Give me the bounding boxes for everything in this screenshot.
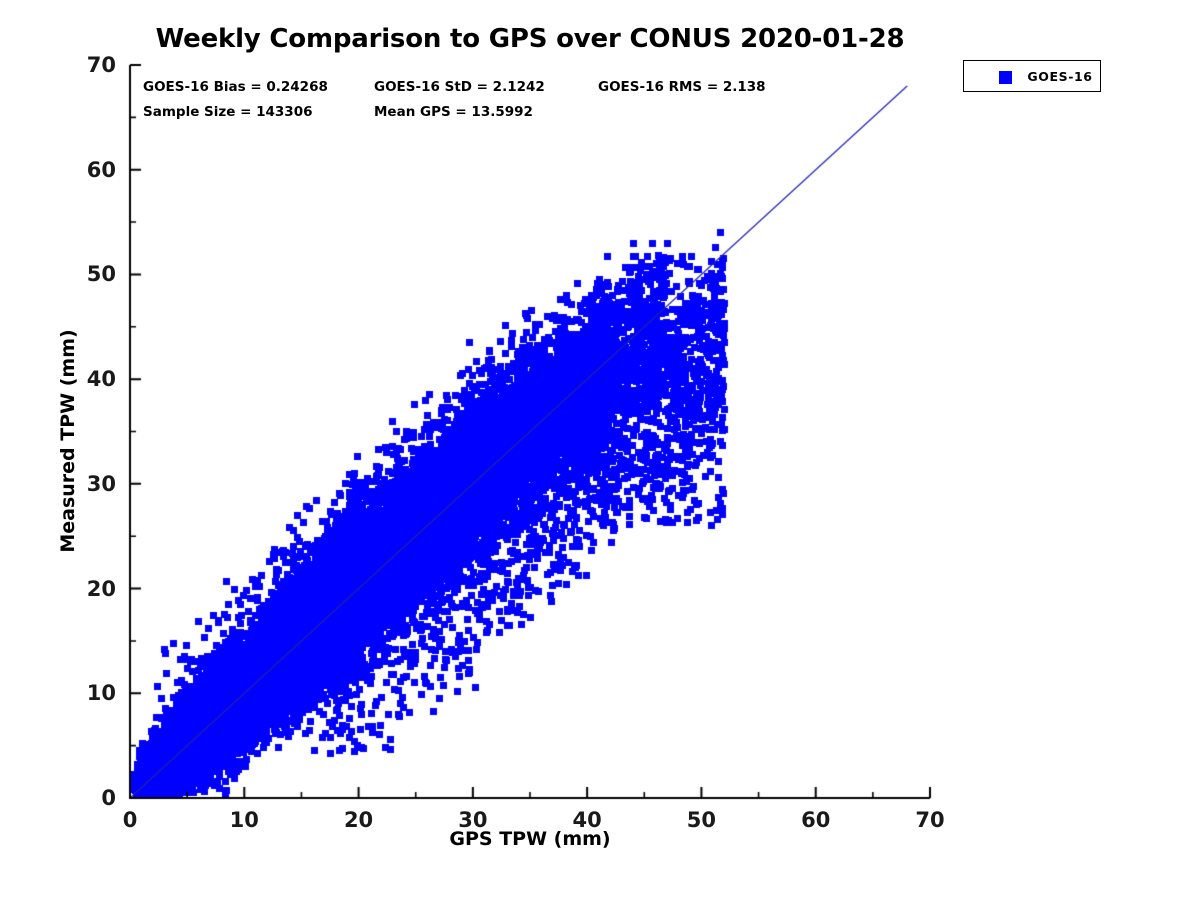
chart-legend: GOES-16 — [963, 60, 1101, 92]
legend-swatch-goes16-icon — [999, 71, 1012, 84]
y-tick-label-0: 0 — [58, 786, 116, 810]
y-tick-label-10: 10 — [58, 681, 116, 705]
y-tick-label-50: 50 — [58, 262, 116, 286]
annotation-mean-gps: Mean GPS = 13.5992 — [374, 104, 533, 120]
legend-label-goes16: GOES-16 — [1024, 69, 1096, 84]
y-tick-label-60: 60 — [58, 158, 116, 182]
annotation-std: GOES-16 StD = 2.1242 — [374, 79, 545, 95]
y-tick-label-70: 70 — [58, 53, 116, 77]
x-axis-label: GPS TPW (mm) — [130, 828, 930, 850]
y-tick-label-20: 20 — [58, 577, 116, 601]
chart-figure: Weekly Comparison to GPS over CONUS 2020… — [0, 0, 1200, 900]
annotation-bias: GOES-16 Bias = 0.24268 — [143, 79, 328, 95]
scatter-plot-canvas — [0, 0, 1200, 900]
annotation-sample-size: Sample Size = 143306 — [143, 104, 312, 120]
annotation-rms: GOES-16 RMS = 2.138 — [598, 79, 766, 95]
y-axis-label: Measured TPW (mm) — [57, 311, 79, 571]
